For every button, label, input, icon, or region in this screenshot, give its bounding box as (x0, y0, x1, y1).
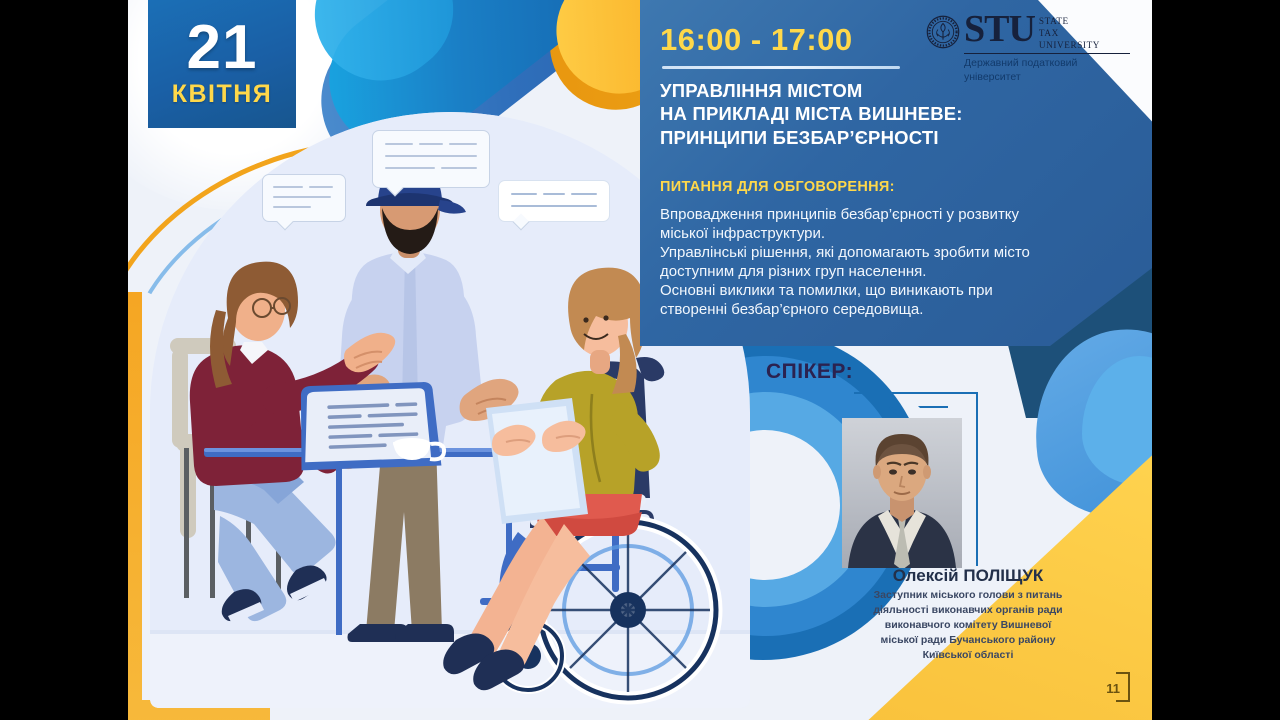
title-divider (662, 66, 900, 69)
speech-bubble-right (498, 180, 610, 222)
speaker-role-line-2: діяльності виконавчих органів ради (778, 603, 1152, 618)
logo-subtitle: Державний податковий університет (964, 57, 1134, 83)
session-title-line-2: НА ПРИКЛАДІ МІСТА ВИШНЕВЕ: (660, 102, 1108, 125)
stu-word-university: UNIVERSITY (1039, 40, 1100, 52)
university-seal-icon (926, 15, 960, 49)
speaker-role-line-4: міської ради Бучанського району (778, 633, 1152, 648)
speaker-role-line-1: Заступник міського голови з питань (778, 588, 1152, 603)
session-title: УПРАВЛІННЯ МІСТОМ НА ПРИКЛАДІ МІСТА ВИШН… (660, 79, 1108, 149)
stu-word-state: STATE (1039, 16, 1100, 28)
question-line-2: міської інфраструктури. (660, 224, 1108, 243)
question-line-4: доступним для різних груп населення. (660, 262, 1108, 281)
question-line-1: Впровадження принципів безбар’єрності у … (660, 205, 1108, 224)
speech-bubble-center (372, 130, 490, 188)
speaker-name: Олексій ПОЛІЩУК (768, 566, 1152, 586)
speech-bubble-left (262, 174, 346, 222)
stu-logo-row: STU STATE TAX UNIVERSITY (926, 12, 1134, 51)
stu-word-tax: TAX (1039, 28, 1100, 40)
question-line-6: створенні безбар’єрного середовища. (660, 300, 1108, 319)
presentation-slide: 21 КВІТНЯ 16:00 - 17:00 УПРАВЛІННЯ МІСТО… (128, 0, 1152, 720)
session-title-line-3: ПРИНЦИПИ БЕЗБАР’ЄРНОСТІ (660, 126, 1108, 149)
questions-body: Впровадження принципів безбар’єрності у … (660, 205, 1108, 319)
blob-blue-highlight-decoration (1082, 356, 1152, 486)
stu-abbreviation: STU (964, 12, 1035, 47)
logo-subtitle-line-1: Державний податковий (964, 57, 1134, 70)
speaker-label: СПІКЕР: (766, 360, 853, 384)
speaker-role-line-3: виконавчого комітету Вишневої (778, 618, 1152, 633)
speaker-portrait-svg (842, 418, 962, 568)
screenshot-stage: 21 КВІТНЯ 16:00 - 17:00 УПРАВЛІННЯ МІСТО… (0, 0, 1280, 720)
page-number-bracket (1116, 672, 1130, 702)
stu-fullname: STATE TAX UNIVERSITY (1039, 16, 1100, 51)
speaker-role: Заступник міського голови з питань діяль… (778, 588, 1152, 663)
blob-blue-decoration (1022, 318, 1152, 531)
date-badge: 21 КВІТНЯ (148, 0, 296, 128)
questions-heading: ПИТАННЯ ДЛЯ ОБГОВОРЕННЯ: (660, 179, 1108, 195)
logo-subtitle-line-2: університет (964, 71, 1134, 84)
speaker-photo (842, 418, 962, 568)
speaker-photo-frame (828, 392, 976, 572)
date-month: КВІТНЯ (172, 80, 273, 109)
question-line-3: Управлінські рішення, які допомагають зр… (660, 243, 1108, 262)
capsule-blue-highlight-decoration (288, 0, 480, 107)
speaker-role-line-5: Київської області (778, 648, 1152, 663)
date-day: 21 (187, 19, 258, 78)
question-line-5: Основні виклики та помилки, що виникають… (660, 281, 1108, 300)
stu-logo: STU STATE TAX UNIVERSITY Державний подат… (926, 12, 1134, 84)
logo-divider (964, 53, 1130, 54)
